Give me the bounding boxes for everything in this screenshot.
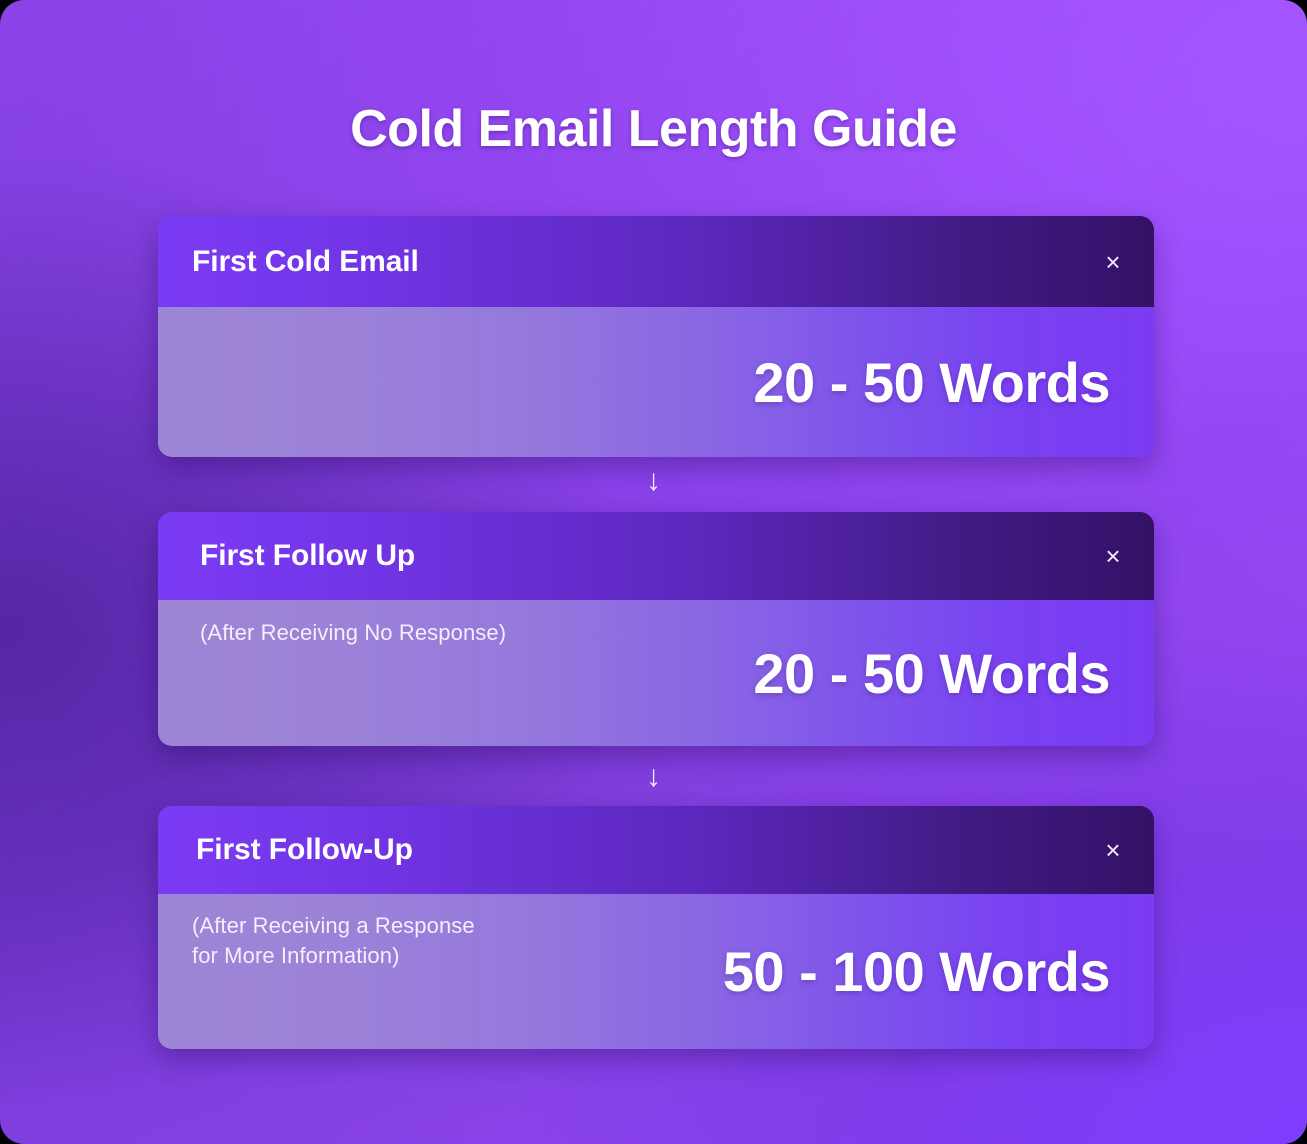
card-header: First Cold Email × <box>158 216 1154 307</box>
card-title: First Follow Up <box>200 539 415 573</box>
infographic-canvas: Cold Email Length Guide First Cold Email… <box>0 0 1307 1144</box>
card-note: (After Receiving No Response) <box>200 618 506 648</box>
arrow-down-icon: ↓ <box>0 466 1307 496</box>
page-title: Cold Email Length Guide <box>0 100 1307 158</box>
word-count-value: 20 - 50 Words <box>753 350 1110 415</box>
card-header: First Follow-Up × <box>158 806 1154 894</box>
card-body: (After Receiving No Response) 20 - 50 Wo… <box>158 600 1154 746</box>
card-title: First Cold Email <box>192 245 419 279</box>
card-header: First Follow Up × <box>158 512 1154 600</box>
close-icon[interactable]: × <box>1098 835 1128 865</box>
word-count-value: 50 - 100 Words <box>723 939 1110 1004</box>
close-icon[interactable]: × <box>1098 247 1128 277</box>
card-body: 20 - 50 Words <box>158 307 1154 457</box>
card-first-cold-email: First Cold Email × 20 - 50 Words <box>158 216 1154 457</box>
card-first-follow-up-after-response: First Follow-Up × (After Receiving a Res… <box>158 806 1154 1049</box>
word-count-value: 20 - 50 Words <box>753 641 1110 706</box>
card-title: First Follow-Up <box>196 833 413 867</box>
card-first-follow-up-no-response: First Follow Up × (After Receiving No Re… <box>158 512 1154 746</box>
card-note: (After Receiving a Response for More Inf… <box>192 911 475 971</box>
close-icon[interactable]: × <box>1098 541 1128 571</box>
arrow-down-icon: ↓ <box>0 762 1307 792</box>
card-body: (After Receiving a Response for More Inf… <box>158 894 1154 1049</box>
